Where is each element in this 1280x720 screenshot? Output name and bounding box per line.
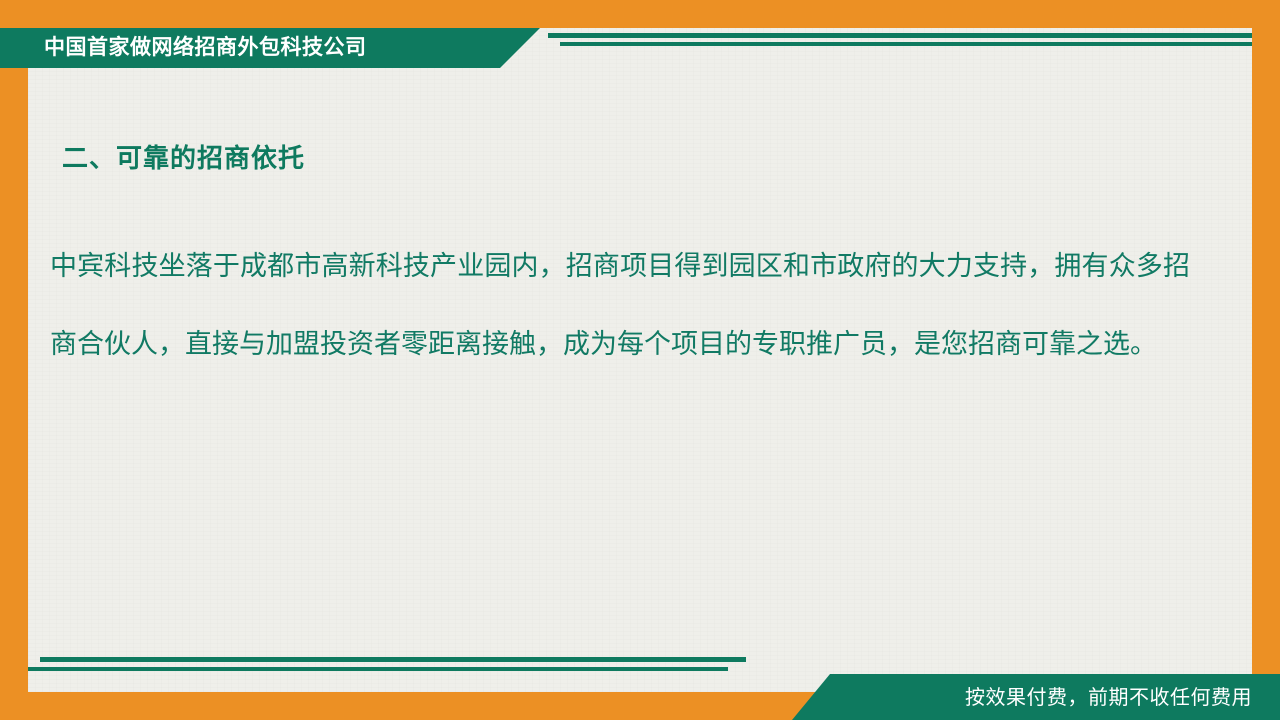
slide: 中国首家做网络招商外包科技公司 二、可靠的招商依托 中宾科技坐落于成都市高新科技…	[0, 0, 1280, 720]
header-accent-line-bottom	[560, 42, 1252, 46]
slide-header: 中国首家做网络招商外包科技公司	[0, 0, 1280, 70]
section-paragraph: 中宾科技坐落于成都市高新科技产业园内，招商项目得到园区和市政府的大力支持，拥有众…	[50, 228, 1190, 384]
footer-accent-line-bottom	[28, 667, 728, 671]
header-tagline: 中国首家做网络招商外包科技公司	[44, 34, 367, 62]
header-accent-line-top	[548, 33, 1252, 38]
section-title: 二、可靠的招商依托	[62, 138, 305, 175]
footer-accent-line-top	[40, 657, 746, 662]
footer-note: 按效果付费，前期不收任何费用	[965, 681, 1252, 710]
slide-footer: 按效果付费，前期不收任何费用	[0, 648, 1280, 720]
